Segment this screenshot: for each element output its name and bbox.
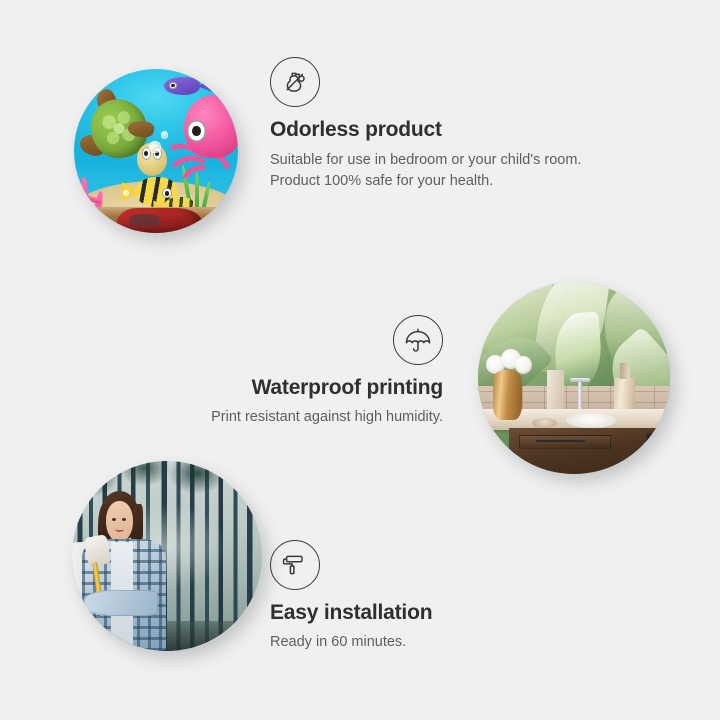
feature-odorless: Odorless product Suitable for use in bed… [270,57,610,192]
feature-description: Suitable for use in bedroom or your chil… [270,150,610,192]
feature-panel: Odorless product Suitable for use in bed… [0,0,720,720]
fish-blue [164,77,200,95]
feature-description: Ready in 60 minutes. [270,632,600,653]
sink-basin [566,413,616,428]
feature-title: Easy installation [270,601,600,625]
ocean-artwork [74,69,238,233]
soap-dish [532,418,557,428]
feature-title: Odorless product [270,118,610,142]
feature-waterproof: Waterproof printing Print resistant agai… [102,315,443,428]
feature-description: Print resistant against high humidity. [102,407,443,428]
gold-vase [493,370,522,420]
umbrella-icon [393,315,443,365]
forest-artwork [72,461,262,651]
underwater-cartoon-wallpaper-photo[interactable] [74,69,238,233]
feature-installation: Easy installation Ready in 60 minutes. [270,540,600,653]
feature-title: Waterproof printing [102,376,443,400]
no-odor-spray-bottle-icon [270,57,320,107]
bathroom-artwork [478,282,670,474]
paint-roller-icon [270,540,320,590]
towel [547,370,564,408]
sea-turtle-illustration [84,97,169,179]
forest-mural-installer-photo[interactable] [72,461,262,651]
bathroom-tropical-wallpaper-photo[interactable] [478,282,670,474]
woman-installer [76,491,179,651]
wood-vanity [509,428,670,474]
